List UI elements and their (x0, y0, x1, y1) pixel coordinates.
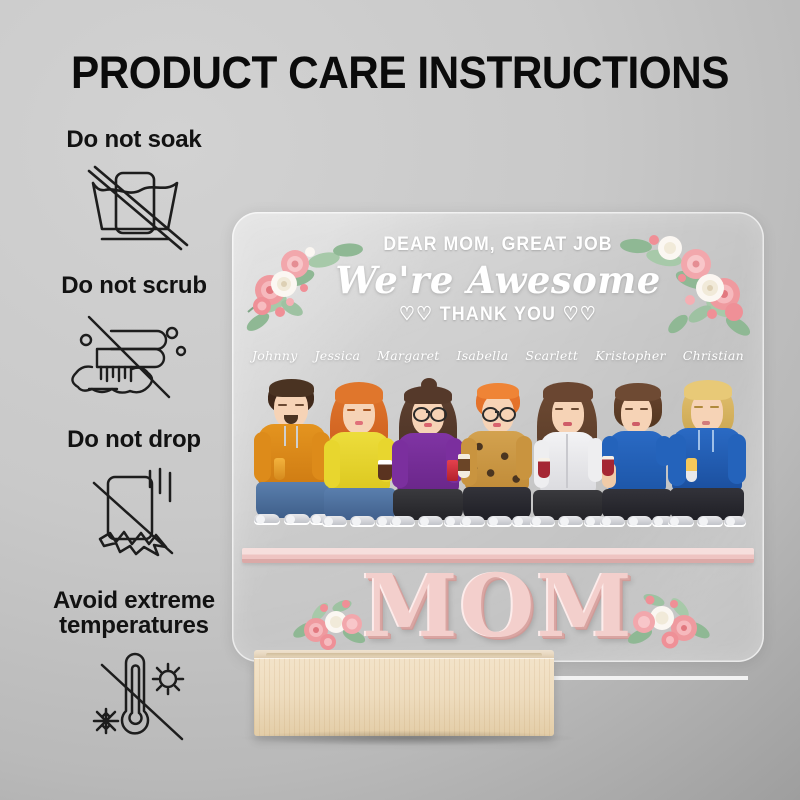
hearts-right-icon: ♡♡ (563, 303, 597, 326)
character-illustration-group (254, 372, 746, 554)
character-figure-isabella (460, 376, 534, 554)
product-care-instructions-image: PRODUCT CARE INSTRUCTIONS Do not soak (0, 0, 800, 800)
character-name-1: Johnny (252, 348, 298, 363)
plaque-message-line3: THANK YOU (440, 304, 556, 326)
mom-word: MOM (232, 564, 764, 650)
care-label-do-not-soak: Do not soak (18, 128, 250, 153)
usb-power-cable (538, 676, 748, 724)
character-figure-kristopher (600, 376, 674, 554)
hearts-left-icon: ♡♡ (399, 303, 433, 326)
plaque-message-line3-row: ♡♡ THANK YOU ♡♡ (251, 303, 746, 326)
character-names-row: Johnny Jessica Margaret Isabella Scarlet… (252, 348, 744, 363)
character-name-3: Margaret (377, 348, 439, 363)
character-figure-scarlett (530, 376, 606, 554)
character-figure-christian (668, 376, 746, 554)
base-front-face (254, 658, 554, 736)
base-acrylic-slot (266, 653, 542, 657)
character-name-6: Kristopher (595, 348, 666, 363)
page-title: PRODUCT CARE INSTRUCTIONS (24, 47, 776, 99)
acrylic-plaque: DEAR MOM, GREAT JOB We're Awesome ♡♡ THA… (232, 212, 764, 662)
character-name-4: Isabella (456, 348, 508, 363)
character-name-7: Christian (683, 348, 744, 363)
plaque-message-line1: DEAR MOM, GREAT JOB (251, 234, 746, 256)
plaque-message-line2: We're Awesome (232, 258, 764, 302)
character-name-2: Jessica (314, 348, 360, 363)
wooden-base-stand (254, 650, 554, 736)
character-figure-jessica (322, 376, 398, 554)
character-figure-margaret (390, 376, 466, 554)
base-drop-shadow (238, 730, 578, 746)
acrylic-led-night-light: DEAR MOM, GREAT JOB We're Awesome ♡♡ THA… (208, 206, 598, 746)
plaque-message: DEAR MOM, GREAT JOB We're Awesome ♡♡ THA… (232, 234, 764, 326)
character-name-5: Scarlett (525, 348, 578, 363)
character-figure-johnny (254, 374, 332, 554)
